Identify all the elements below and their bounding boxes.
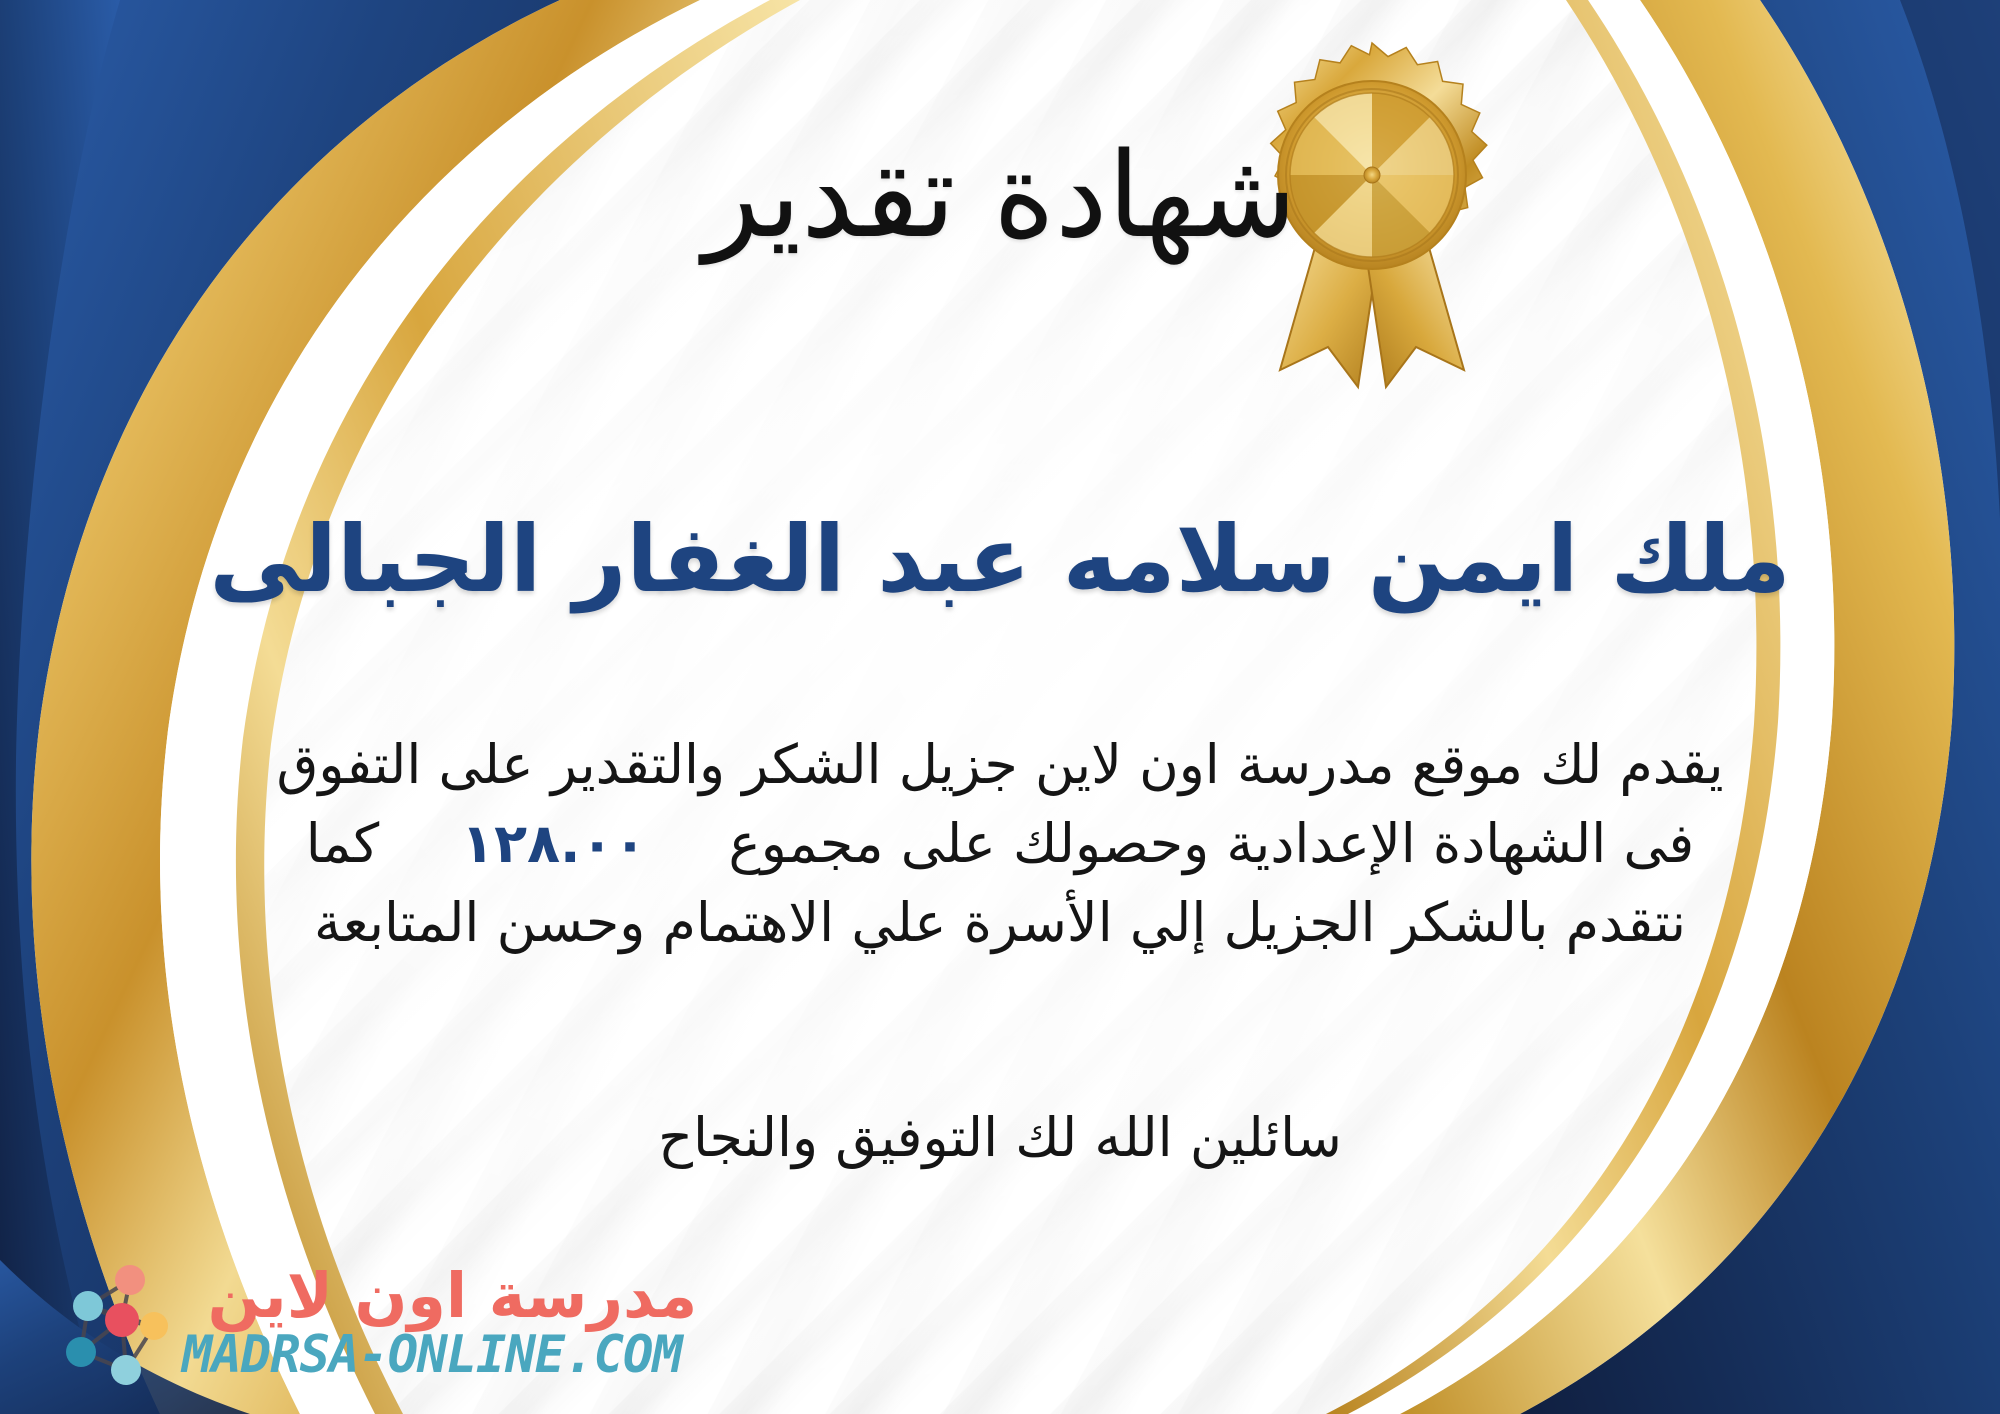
site-logo[interactable]: مدرسة اون لاين MADRSA-ONLINE.COM — [26, 1248, 697, 1398]
body-line-3: نتقدم بالشكر الجزيل إلي الأسرة علي الاهت… — [60, 884, 1940, 963]
body-line-2: فى الشهادة الإعدادية وحصولك على مجموع١٢٨… — [60, 805, 1940, 884]
logo-domain: MADRSA-ONLINE.COM — [182, 1328, 682, 1383]
network-nodes-icon — [26, 1248, 176, 1398]
body-line-1: يقدم لك موقع مدرسة اون لاين جزيل الشكر و… — [60, 726, 1940, 805]
grade-value: ١٢٨.٠٠ — [435, 812, 672, 875]
certificate-canvas: شهادة تقدير ملك ايمن سلامه عبد الغفار ال… — [0, 0, 2000, 1414]
body-line-2-suffix: كما — [306, 812, 379, 875]
certificate-content: شهادة تقدير ملك ايمن سلامه عبد الغفار ال… — [0, 0, 2000, 1414]
logo-arabic-name: مدرسة اون لاين — [208, 1263, 698, 1328]
logo-text-block: مدرسة اون لاين MADRSA-ONLINE.COM — [182, 1263, 697, 1383]
closing-wish: سائلين الله لك التوفيق والنجاح — [0, 1100, 2000, 1176]
certificate-title: شهادة تقدير — [0, 128, 2000, 264]
body-line-2-prefix: فى الشهادة الإعدادية وحصولك على مجموع — [728, 812, 1694, 875]
student-name: ملك ايمن سلامه عبد الغفار الجبالى — [0, 505, 2000, 615]
certificate-body: يقدم لك موقع مدرسة اون لاين جزيل الشكر و… — [60, 726, 1940, 962]
